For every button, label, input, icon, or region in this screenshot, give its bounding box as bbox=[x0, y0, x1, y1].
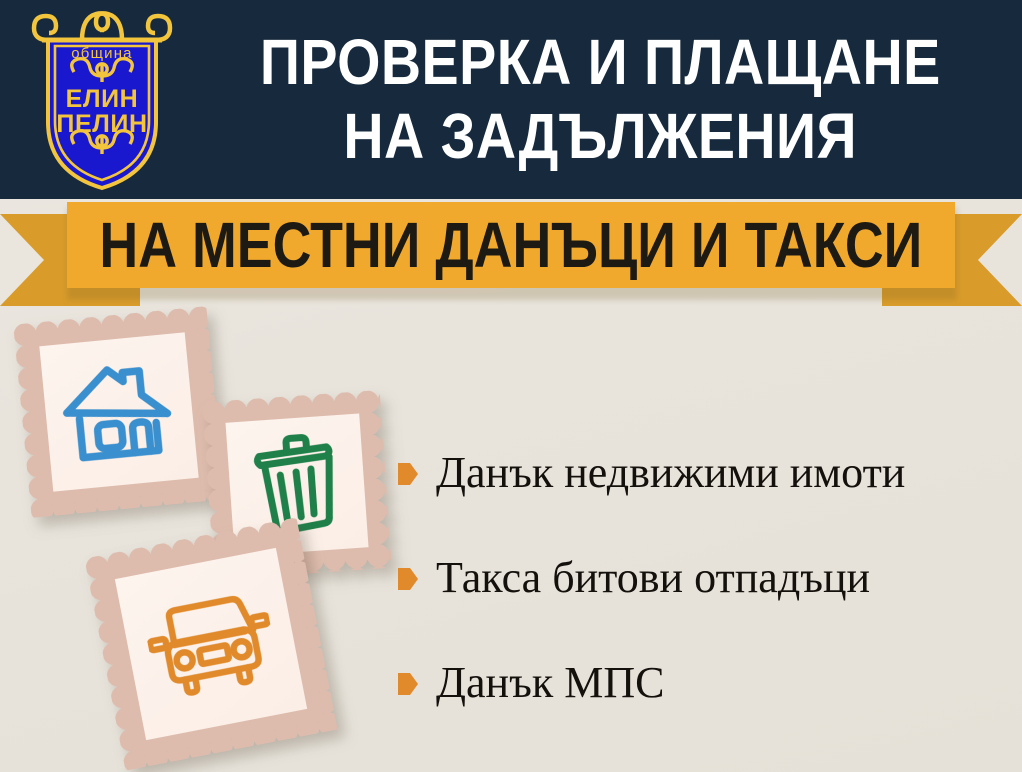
car-front-icon bbox=[141, 585, 281, 703]
ribbon-label: НА МЕСТНИ ДАНЪЦИ И ТАКСИ bbox=[100, 212, 923, 278]
list-item[interactable]: Данък МПС bbox=[398, 630, 1008, 735]
stamp-card-car bbox=[84, 517, 337, 770]
stamp-inner-face bbox=[115, 548, 307, 740]
svg-text:ЕЛИН: ЕЛИН bbox=[66, 85, 139, 113]
list-item-label: Данък недвижими имоти bbox=[436, 449, 905, 497]
tax-type-list: Данък недвижими имоти Такса битови отпад… bbox=[398, 420, 1008, 735]
house-icon bbox=[58, 355, 179, 469]
poster-header: община ЕЛИН ПЕЛИН ПРОВЕРКА И ПЛАЩАНЕ НА … bbox=[0, 0, 1022, 199]
pentagon-arrow-bullet-icon bbox=[398, 567, 418, 591]
svg-text:община: община bbox=[71, 45, 132, 62]
svg-text:ПЕЛИН: ПЕЛИН bbox=[56, 110, 147, 138]
ribbon-panel: НА МЕСТНИ ДАНЪЦИ И ТАКСИ bbox=[67, 202, 955, 288]
municipality-logo: община ЕЛИН ПЕЛИН bbox=[22, 4, 182, 194]
list-item[interactable]: Данък недвижими имоти bbox=[398, 420, 1008, 525]
pentagon-arrow-bullet-icon bbox=[398, 672, 418, 696]
title-line-1: ПРОВЕРКА И ПЛАЩАНЕ bbox=[260, 25, 941, 99]
stamp-inner-face bbox=[39, 332, 198, 491]
list-item-label: Такса битови отпадъци bbox=[436, 554, 870, 602]
pentagon-arrow-bullet-icon bbox=[398, 462, 418, 486]
subtitle-ribbon: НА МЕСТНИ ДАНЪЦИ И ТАКСИ bbox=[0, 196, 1022, 308]
list-item-label: Данък МПС bbox=[436, 659, 664, 707]
list-item[interactable]: Такса битови отпадъци bbox=[398, 525, 1008, 630]
coat-of-arms-icon: община ЕЛИН ПЕЛИН bbox=[22, 4, 182, 194]
poster-canvas: община ЕЛИН ПЕЛИН ПРОВЕРКА И ПЛАЩАНЕ НА … bbox=[0, 0, 1022, 772]
stamp-card-house bbox=[13, 306, 225, 518]
poster-title: ПРОВЕРКА И ПЛАЩАНЕ НА ЗАДЪЛЖЕНИЯ bbox=[190, 14, 1010, 184]
title-line-2: НА ЗАДЪЛЖЕНИЯ bbox=[343, 99, 857, 173]
